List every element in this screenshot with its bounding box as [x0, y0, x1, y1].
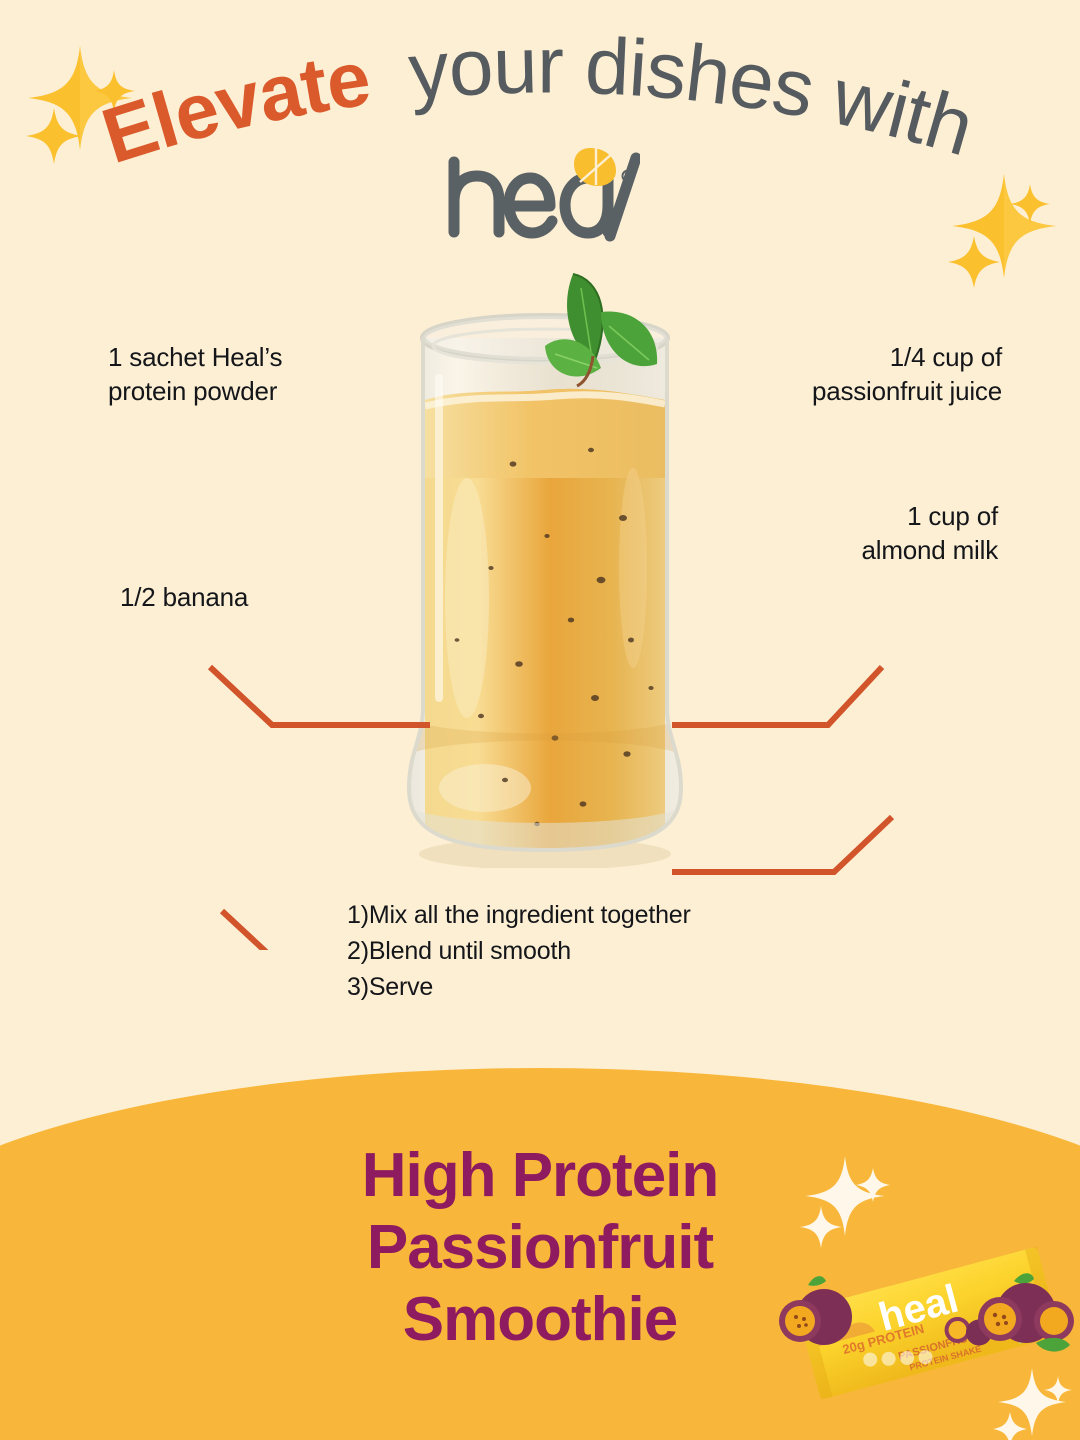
product-packet-image: heal 20g PROTEIN PASSIONFRUIT PUNCH PROT… [778, 1225, 1080, 1415]
instructions-list: 1)Mix all the ingredient together 2)Blen… [347, 898, 691, 1005]
instruction-step: 2)Blend until smooth [347, 934, 691, 970]
infographic-canvas: Elevate your dishes with ® [0, 0, 1080, 1440]
ingredient-label-passionfruit-juice: 1/4 cup of passionfruit juice [812, 341, 1002, 409]
leader-line-passionfruit-juice [672, 667, 882, 725]
page-title-line: High Protein [0, 1140, 1080, 1212]
instruction-step: 1)Mix all the ingredient together [347, 898, 691, 934]
brand-logo: ® [440, 146, 640, 246]
ingredient-label-protein-powder: 1 sachet Heal’s protein powder [108, 341, 282, 409]
passionfruit-icon [779, 1276, 852, 1345]
ingredient-label-banana: 1/2 banana [120, 581, 248, 615]
leader-line-almond-milk [672, 817, 892, 872]
leaf-icon [574, 148, 616, 186]
leader-line-protein-powder [210, 667, 430, 725]
ingredient-label-almond-milk: 1 cup of almond milk [861, 500, 998, 568]
instruction-step: 3)Serve [347, 970, 691, 1006]
headline-accent-word: Elevate [92, 34, 375, 180]
registered-mark: ® [625, 174, 631, 182]
